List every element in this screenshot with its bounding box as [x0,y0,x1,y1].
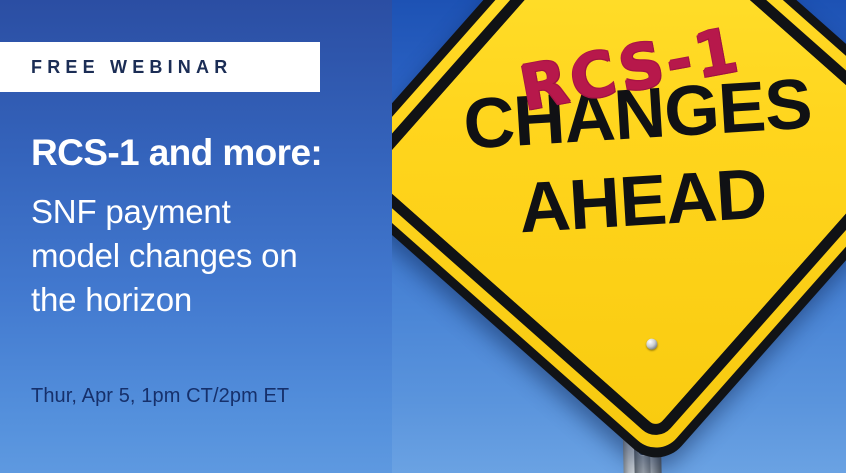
road-sign-photo: CHANGES AHEAD RCS-1 [392,0,846,473]
sign-text-ahead: AHEAD [517,158,768,244]
promo-text-panel: FREE WEBINAR RCS-1 and more: SNF payment… [0,0,420,473]
subtitle-line-1: SNF payment [31,190,411,234]
event-datetime: Thur, Apr 5, 1pm CT/2pm ET [31,385,289,408]
subtitle-line-2: model changes on [31,234,411,278]
page-title: RCS-1 and more: [31,133,322,174]
sign-bolt-bottom [646,338,658,350]
webinar-promo-banner: CHANGES AHEAD RCS-1 FREE WEBINAR RCS-1 a… [0,0,846,473]
badge-label: FREE WEBINAR [31,57,232,78]
subtitle-line-3: the horizon [31,278,411,322]
warning-sign: CHANGES AHEAD RCS-1 [405,0,846,393]
subtitle: SNF payment model changes on the horizon [31,190,411,322]
free-webinar-badge: FREE WEBINAR [0,42,320,92]
